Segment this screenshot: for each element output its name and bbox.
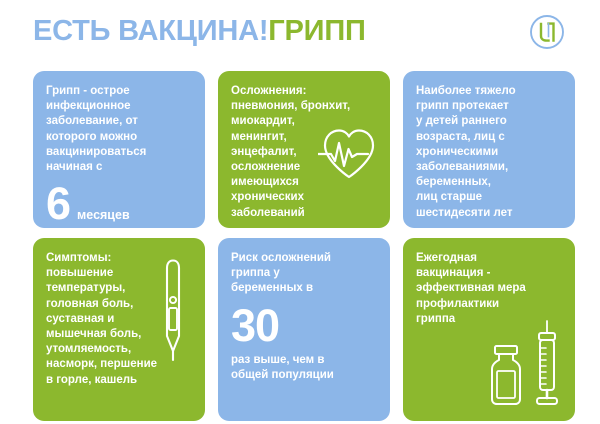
circle-monogram-logo [529, 14, 565, 50]
big-number-row: 6 месяцев [46, 182, 193, 226]
card-annual-vaccination: Ежегодная вакцинация - эффективная мера … [403, 238, 575, 421]
card-body-text: Риск осложнений гриппа у беременных в [231, 251, 378, 297]
card-body-text: Симптомы: повышение температуры, головна… [46, 251, 193, 388]
card-symptoms: Симптомы: повышение температуры, головна… [33, 238, 205, 421]
page-title: ЕСТЬ ВАКЦИНА!ГРИПП [33, 14, 366, 48]
big-number-unit: месяцев [77, 208, 130, 222]
card-body-text: Осложнения: пневмония, бронхит, миокарди… [231, 84, 378, 221]
card-body-text: Ежегодная вакцинация - эффективная мера … [416, 251, 563, 327]
card-pregnancy-risk: Риск осложнений гриппа у беременных в 30… [218, 238, 390, 421]
title-part-green: ГРИПП [268, 15, 365, 47]
cards-grid: Грипп - острое инфекционное заболевание,… [33, 71, 575, 421]
header: ЕСТЬ ВАКЦИНА!ГРИПП [0, 0, 600, 66]
vial-syringe-icon [485, 319, 567, 411]
card-complications: Осложнения: пневмония, бронхит, миокарди… [218, 71, 390, 228]
card-body-text: Наиболее тяжело грипп протекает у детей … [416, 84, 563, 221]
infographic-page: ЕСТЬ ВАКЦИНА!ГРИПП Грипп - острое инфекц… [0, 0, 600, 424]
card-flu-vaccination-age: Грипп - острое инфекционное заболевание,… [33, 71, 205, 228]
big-number: 30 [231, 304, 279, 348]
big-number-row: 30 [231, 304, 378, 348]
card-subtext: раз выше, чем в общей популяции [231, 353, 378, 383]
card-severe-groups: Наиболее тяжело грипп протекает у детей … [403, 71, 575, 228]
title-part-blue: ЕСТЬ ВАКЦИНА! [33, 15, 268, 47]
big-number: 6 [46, 182, 70, 226]
card-body-text: Грипп - острое инфекционное заболевание,… [46, 84, 193, 175]
